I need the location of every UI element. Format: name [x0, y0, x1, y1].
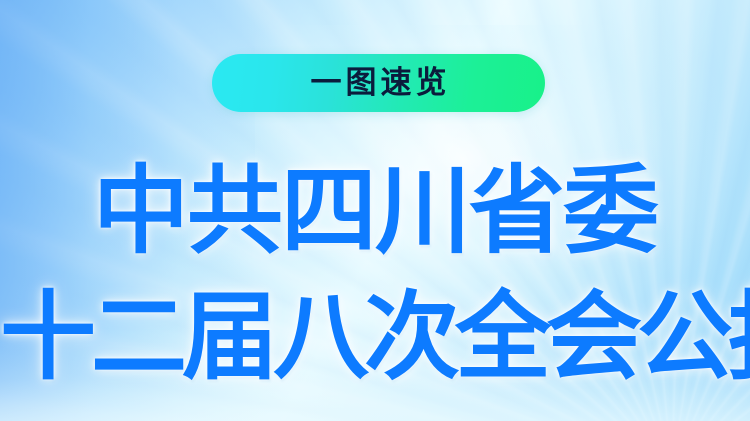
- headline-line-2: 十二届八次全会公报: [0, 289, 750, 385]
- overview-badge: 一图速览: [212, 54, 545, 112]
- poster-content: 一图速览 中共四川省委 十二届八次全会公报: [0, 0, 750, 421]
- poster-graphic: 一图速览 中共四川省委 十二届八次全会公报: [0, 0, 750, 421]
- overview-badge-label: 一图速览: [307, 68, 451, 99]
- headline-line-1: 中共四川省委: [0, 163, 750, 259]
- page-title: 中共四川省委 十二届八次全会公报: [0, 163, 750, 385]
